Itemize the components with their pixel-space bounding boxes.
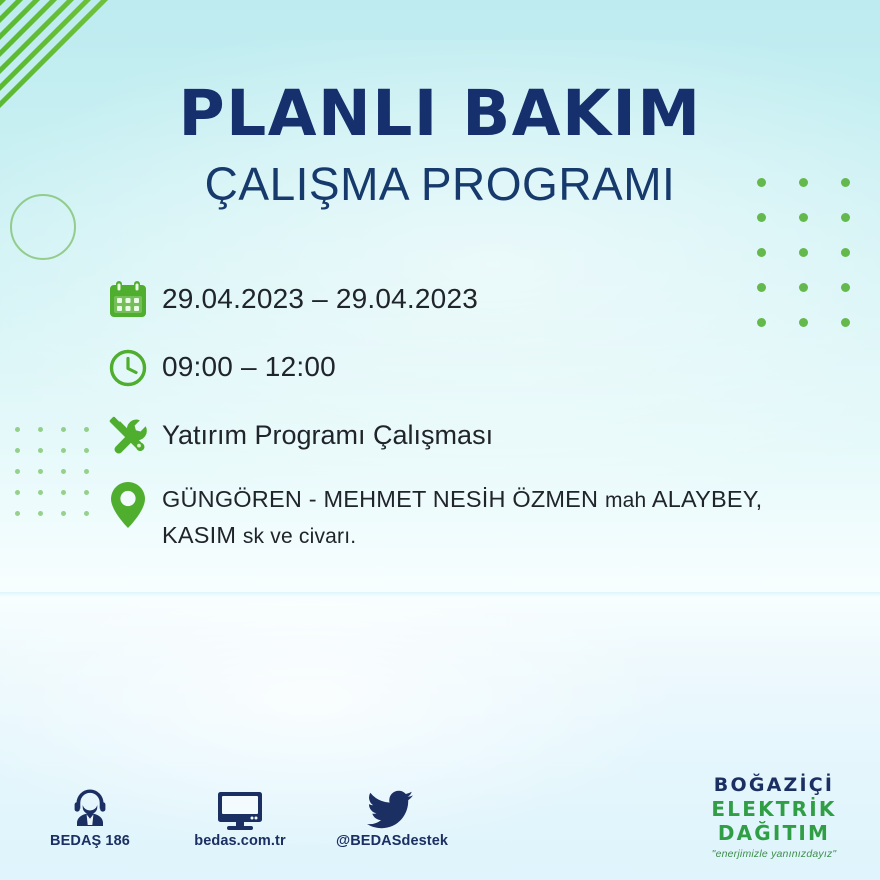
decorative-dot [61,469,66,474]
date-range-value: 29.04.2023 – 29.04.2023 [162,274,478,318]
address-line2-small: sk ve civarı. [243,525,356,548]
address-line1-tail: ALAYBEY, [646,486,762,512]
address-line2-main: KASIM [162,522,243,548]
decorative-dot [757,248,766,257]
detail-row-address: GÜNGÖREN - MEHMET NESİH ÖZMEN mah ALAYBE… [106,478,806,554]
left-dot-grid-decoration [0,427,107,532]
maintenance-details: 29.04.2023 – 29.04.2023 09:00 – 12:00 [106,274,806,554]
decorative-dot [61,511,66,516]
brand-line-bogazici: BOĞAZİÇİ [688,776,860,795]
decorative-dot [15,511,20,516]
decorative-dot [61,490,66,495]
decorative-dot [38,511,43,516]
decorative-dot [61,427,66,432]
decorative-dot [38,448,43,453]
footer-label-website: bedas.com.tr [194,833,285,849]
location-pin-icon [106,478,162,532]
page-title: PLANLI BAKIM [0,82,880,145]
address-line1-main: GÜNGÖREN - MEHMET NESİH ÖZMEN [162,486,605,512]
decorative-dot [841,248,850,257]
page-subtitle: ÇALIŞMA PROGRAMI [0,161,880,207]
footer-item-call-center[interactable]: BEDAŞ 186 [36,782,144,850]
detail-row-work-type: Yatırım Programı Çalışması [106,410,806,462]
poster-heading: PLANLI BAKIM ÇALIŞMA PROGRAMI [0,82,880,207]
decorative-dot [15,469,20,474]
footer-item-website[interactable]: bedas.com.tr [186,782,294,850]
monitor-icon [186,782,294,832]
decorative-dot [757,213,766,222]
address-value: GÜNGÖREN - MEHMET NESİH ÖZMEN mah ALAYBE… [162,478,762,554]
footer-label-call-center: BEDAŞ 186 [50,833,130,849]
detail-row-date: 29.04.2023 – 29.04.2023 [106,274,806,326]
decorative-dot [38,469,43,474]
corner-stripe [0,0,176,62]
address-line1-small: mah [605,489,646,512]
planned-maintenance-poster: PLANLI BAKIM ÇALIŞMA PROGRAMI [0,0,880,880]
decorative-dot [15,427,20,432]
footer-contact-strip: BEDAŞ 186 bedas.com.tr @B [36,782,444,850]
decorative-dot [38,427,43,432]
decorative-dot [841,283,850,292]
time-range-value: 09:00 – 12:00 [162,342,336,386]
brand-logo: BOĞAZİÇİ ELEKTRİK DAĞITIM "enerjimizle y… [688,776,860,860]
calendar-icon [106,274,162,326]
decorative-dot [38,490,43,495]
work-type-value: Yatırım Programı Çalışması [162,410,493,454]
headset-agent-icon [36,782,144,832]
twitter-bird-icon [336,782,444,832]
decorative-dot [84,511,89,516]
brand-line-dagitim: DAĞITIM [688,823,860,843]
decorative-dot [841,213,850,222]
tools-icon [106,410,162,462]
brand-line-elektrik: ELEKTRİK [688,799,860,819]
decorative-dot [84,469,89,474]
decorative-dot [84,448,89,453]
decorative-dot [15,448,20,453]
decorative-dot [799,213,808,222]
decorative-dot [15,490,20,495]
brand-tagline: "enerjimizle yanınızdayız" [688,849,860,860]
decorative-dot [799,248,808,257]
decorative-dot [84,490,89,495]
footer-item-twitter[interactable]: @BEDASdestek [336,782,444,850]
footer-label-twitter: @BEDASdestek [336,833,448,849]
decorative-dot [61,448,66,453]
decorative-dot [841,318,850,327]
decorative-dot [84,427,89,432]
detail-row-time: 09:00 – 12:00 [106,342,806,394]
clock-icon [106,342,162,394]
